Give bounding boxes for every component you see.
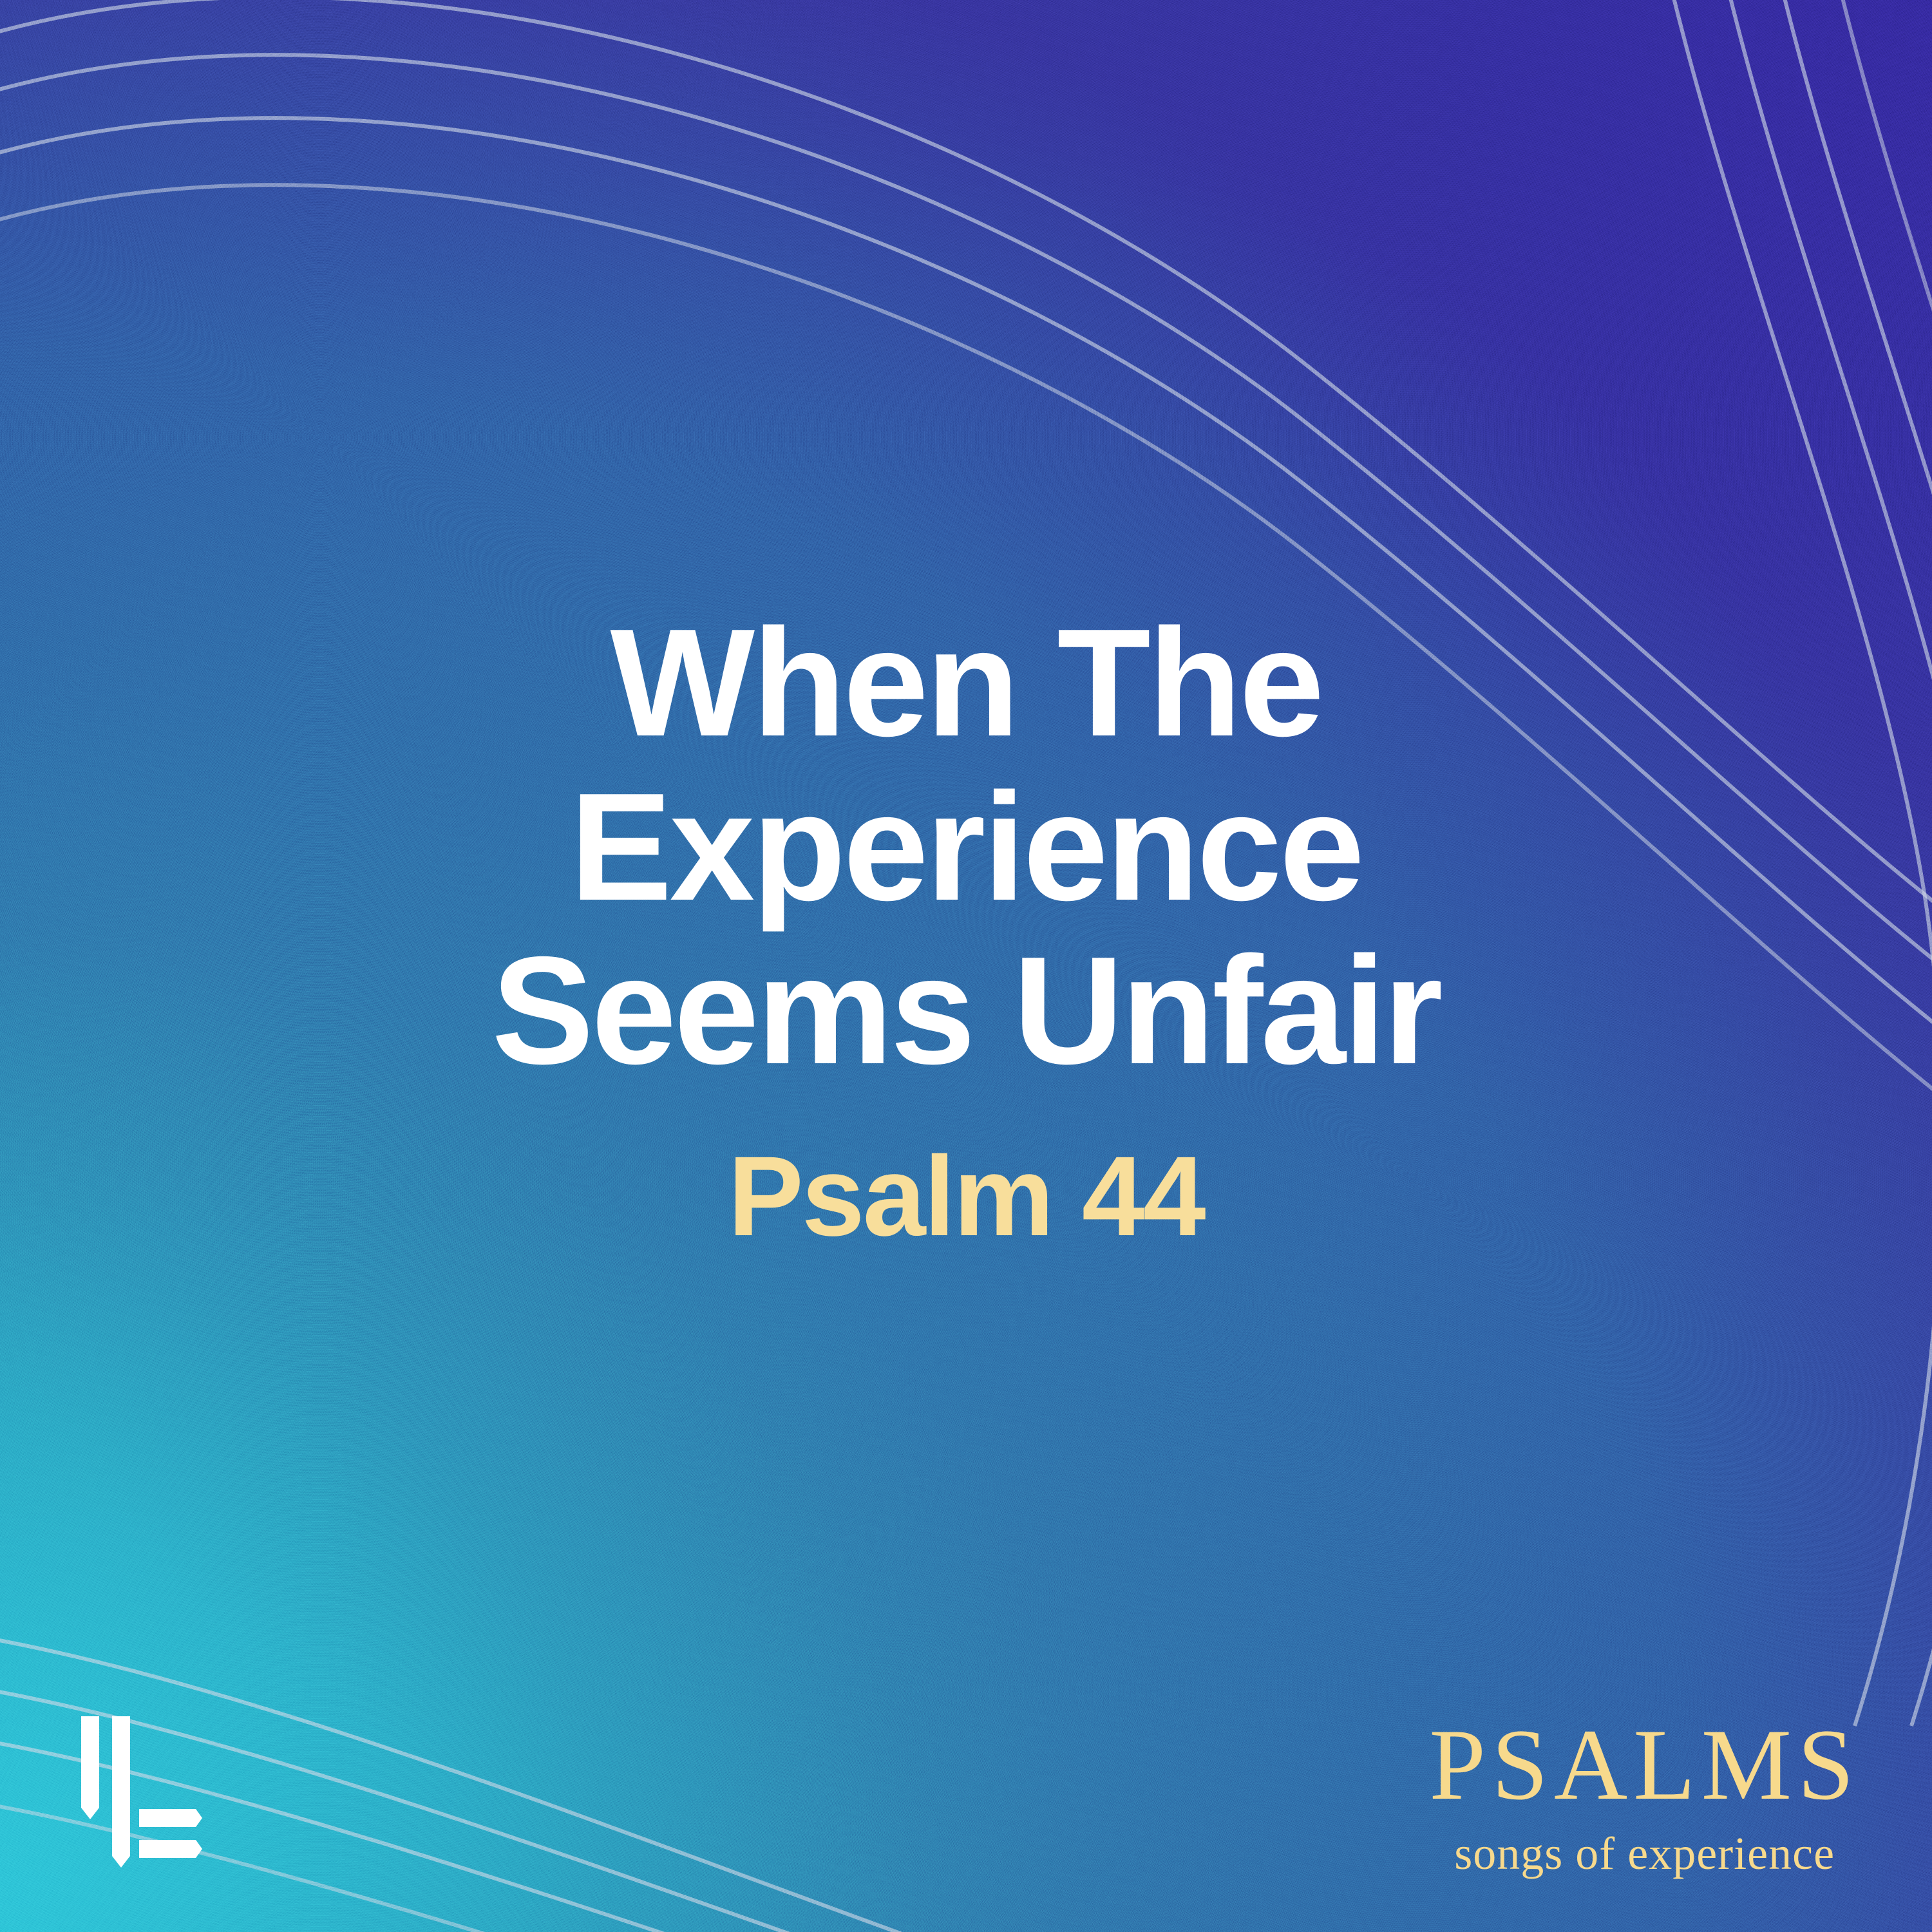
title-line-1: When The	[491, 601, 1440, 766]
logo-bar-top-horizontal	[139, 1809, 202, 1827]
logo-bar-bottom-horizontal	[139, 1840, 202, 1858]
title-line-2: Experience	[491, 766, 1440, 930]
series-tagline: songs of experience	[1429, 1830, 1860, 1877]
series-title: PSALMS	[1429, 1714, 1860, 1816]
artwork-canvas: When The Experience Seems Unfair Psalm 4…	[0, 0, 1932, 1932]
scripture-reference: Psalm 44	[728, 1140, 1204, 1253]
page-title: When The Experience Seems Unfair	[491, 601, 1440, 1094]
series-lockup: PSALMS songs of experience	[1429, 1714, 1860, 1877]
logo-bar-center	[112, 1716, 130, 1868]
logo-bar-left	[81, 1716, 99, 1819]
title-line-3: Seems Unfair	[491, 929, 1440, 1094]
church-logo-mark	[76, 1711, 211, 1875]
title-block: When The Experience Seems Unfair Psalm 4…	[0, 0, 1932, 1932]
